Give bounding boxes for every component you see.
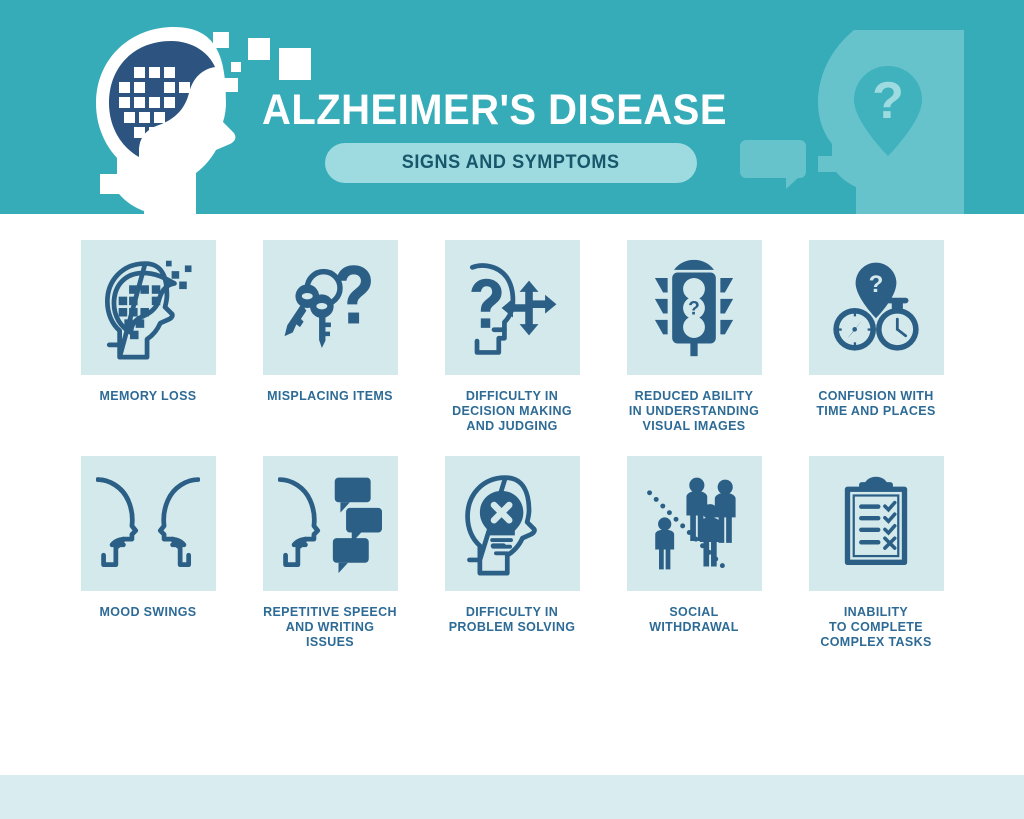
symptom-label: MOOD SWINGS [100,605,197,620]
pixel-square-decor [279,48,311,80]
symptom-label: REPETITIVE SPEECH AND WRITING ISSUES [263,605,398,650]
svg-text:?: ? [869,271,884,298]
head-with-question-pin-icon: ? [814,30,964,214]
symptoms-row-2: MOOD SWINGS [0,456,1024,650]
symptoms-grid: MEMORY LOSS [0,240,1024,672]
head-lightbulb-x-icon [445,456,580,591]
symptom-label: CONFUSION WITH TIME AND PLACES [816,389,935,419]
subtitle-text: SIGNS AND SYMPTOMS [402,152,620,174]
symptom-card-complex-tasks[interactable]: INABILITY TO COMPLETE COMPLEX TASKS [809,456,944,650]
symptom-card-mood-swings[interactable]: MOOD SWINGS [81,456,216,650]
header-banner: ? [0,0,1024,214]
page-title: ALZHEIMER'S DISEASE [262,86,727,135]
symptoms-row-1: MEMORY LOSS [0,240,1024,434]
people-divided-dotted-line-icon [627,456,762,591]
symptom-label: MEMORY LOSS [100,389,197,404]
symptom-card-visual-images[interactable]: ? REDUCED ABILITY IN UNDERSTANDING VISUA… [627,240,762,434]
head-with-speech-bubbles-icon [263,456,398,591]
head-question-four-arrows-icon [445,240,580,375]
keys-with-question-mark-icon [263,240,398,375]
footer-band [0,775,1024,819]
symptom-card-time-places[interactable]: ? [809,240,944,434]
two-facing-heads-icon [81,456,216,591]
head-pixel-brain-outline-icon [81,240,216,375]
symptom-card-memory-loss[interactable]: MEMORY LOSS [81,240,216,434]
symptom-label: SOCIAL WITHDRAWAL [627,605,762,635]
symptom-card-repetitive-speech[interactable]: REPETITIVE SPEECH AND WRITING ISSUES [263,456,398,650]
symptom-card-problem-solving[interactable]: DIFFICULTY IN PROBLEM SOLVING [445,456,580,650]
symptom-card-social-withdrawal[interactable]: SOCIAL WITHDRAWAL [627,456,762,650]
symptom-card-misplacing-items[interactable]: MISPLACING ITEMS [263,240,398,434]
symptom-label: MISPLACING ITEMS [267,389,393,404]
svg-text:?: ? [872,72,904,130]
symptom-label: DIFFICULTY IN DECISION MAKING AND JUDGIN… [452,389,572,434]
pin-compass-stopwatch-icon: ? [809,240,944,375]
symptom-label: REDUCED ABILITY IN UNDERSTANDING VISUAL … [629,389,759,434]
speech-bubble-icon [740,140,806,178]
infographic-canvas: ? [0,0,1024,819]
subtitle-badge: SIGNS AND SYMPTOMS [325,143,697,183]
symptom-card-decision-making[interactable]: DIFFICULTY IN DECISION MAKING AND JUDGIN… [445,240,580,434]
symptom-label: DIFFICULTY IN PROBLEM SOLVING [449,605,576,635]
head-with-pixel-brain-icon [78,25,278,214]
clipboard-checklist-x-icon [809,456,944,591]
svg-text:?: ? [688,298,700,319]
symptom-label: INABILITY TO COMPLETE COMPLEX TASKS [820,605,931,650]
traffic-light-question-icon: ? [627,240,762,375]
